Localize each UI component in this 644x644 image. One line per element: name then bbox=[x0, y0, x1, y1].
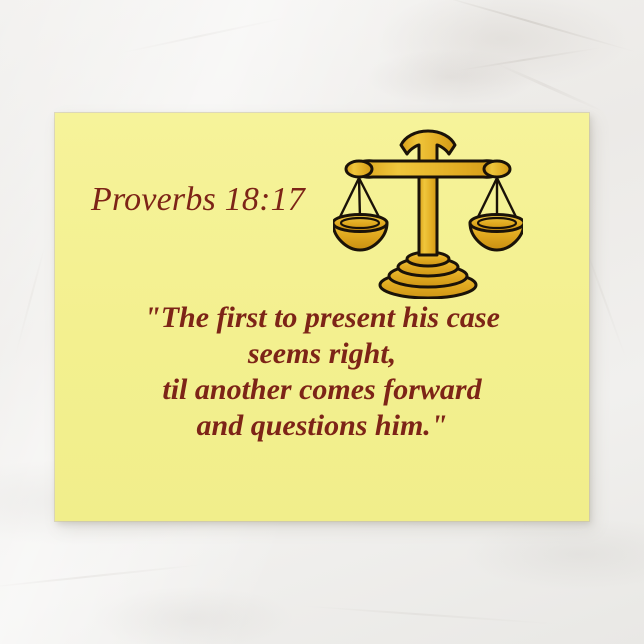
marble-vein bbox=[122, 16, 289, 53]
scale-right-pan bbox=[470, 215, 523, 251]
quote-line-2: seems right, bbox=[55, 336, 589, 372]
quote-line-4: and questions him." bbox=[55, 408, 589, 444]
marble-vein bbox=[456, 46, 604, 71]
marble-vein bbox=[434, 0, 636, 53]
scales-of-justice-icon bbox=[333, 119, 523, 299]
scale-beam-right-knob bbox=[484, 161, 510, 177]
marble-vein bbox=[495, 62, 606, 114]
marble-backdrop: Proverbs 18:17 bbox=[0, 0, 644, 644]
marble-vein bbox=[300, 605, 560, 625]
scripture-quote: "The first to present his case seems rig… bbox=[55, 300, 589, 444]
scale-finial bbox=[401, 131, 455, 163]
scale-left-strings bbox=[339, 178, 380, 219]
quote-line-3: til another comes forward bbox=[55, 372, 589, 408]
scale-beam-left-knob bbox=[346, 161, 372, 177]
postcard: Proverbs 18:17 bbox=[55, 113, 589, 521]
scale-right-strings bbox=[477, 178, 517, 219]
marble-vein bbox=[14, 243, 47, 359]
marble-vein bbox=[0, 563, 209, 589]
quote-line-1: "The first to present his case bbox=[55, 300, 589, 336]
scale-beam bbox=[353, 161, 503, 177]
page-title: Proverbs 18:17 bbox=[91, 183, 305, 217]
scale-left-pan bbox=[333, 215, 387, 251]
